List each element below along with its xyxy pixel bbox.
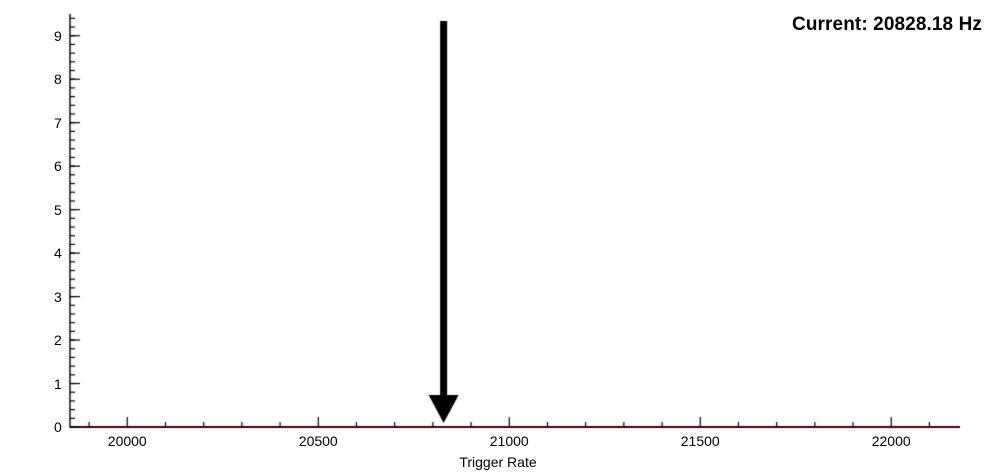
x-tick-label: 20000: [108, 433, 147, 449]
y-tick-label: 3: [54, 289, 62, 305]
y-tick-label: 0: [54, 419, 62, 435]
x-tick-label: 20500: [299, 433, 338, 449]
y-tick-label: 5: [54, 202, 62, 218]
trigger-rate-histogram-panel: Current: 20828.18 Hz Trigger Rate 200002…: [0, 0, 996, 472]
y-tick-label: 2: [54, 332, 62, 348]
x-tick-label: 22000: [872, 433, 911, 449]
current-rate-label: Current: 20828.18 Hz: [792, 14, 982, 36]
y-tick-label: 9: [54, 28, 62, 44]
x-tick-label: 21000: [490, 433, 529, 449]
x-axis-title: Trigger Rate: [0, 454, 996, 470]
y-tick-label: 6: [54, 158, 62, 174]
y-tick-label: 4: [54, 245, 62, 261]
y-tick-label: 7: [54, 115, 62, 131]
x-tick-label: 21500: [681, 433, 720, 449]
y-tick-label: 1: [54, 376, 62, 392]
y-tick-label: 8: [54, 71, 62, 87]
histogram-plot-canvas: [0, 0, 996, 472]
